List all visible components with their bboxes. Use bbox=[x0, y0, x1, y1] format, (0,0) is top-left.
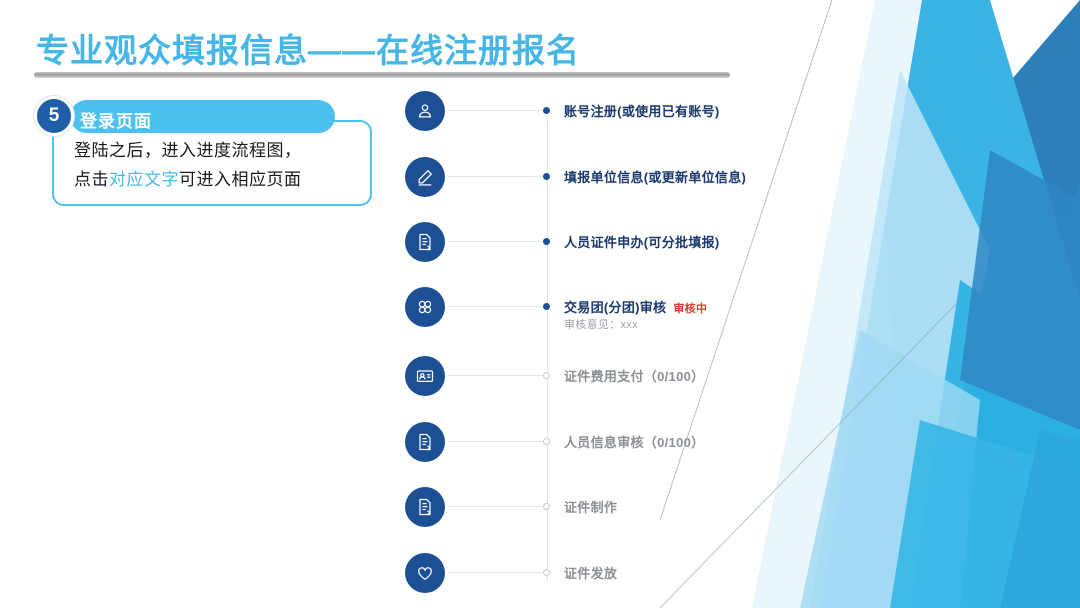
flow-step-6[interactable]: 人员信息审核（0/100） bbox=[396, 419, 776, 475]
flow-step-label: 交易团(分团)审核审核中 bbox=[564, 297, 707, 316]
flow-step-3[interactable]: 人员证件申办(可分批填报) bbox=[396, 219, 776, 275]
flow-step-4[interactable]: 交易团(分团)审核审核中 审核意见：xxx bbox=[396, 284, 776, 340]
flow-connector bbox=[448, 572, 547, 573]
flow-connector bbox=[448, 241, 547, 242]
flow-step-label: 证件费用支付（0/100） bbox=[564, 366, 704, 385]
title-divider bbox=[34, 72, 730, 78]
flow-bullet bbox=[543, 503, 550, 510]
callout-link-text[interactable]: 对应文字 bbox=[109, 170, 179, 189]
callout-panel: 登陆之后，进入进度流程图， 点击对应文字可进入相应页面 登录页面 5 bbox=[34, 96, 372, 136]
document-arrow-icon bbox=[405, 222, 445, 262]
flow-step-7[interactable]: 证件制作 bbox=[396, 484, 776, 540]
flow-step-label-text: 填报单位信息(或更新单位信息) bbox=[564, 170, 746, 185]
progress-flowchart: 账号注册(或使用已有账号) 填报单位信息(或更新单位信息) bbox=[396, 88, 776, 608]
flow-step-label-text: 人员证件申办(可分批填报) bbox=[564, 235, 720, 250]
flow-step-label: 账号注册(或使用已有账号) bbox=[564, 101, 720, 120]
id-card-icon bbox=[405, 356, 445, 396]
document-arrow-icon bbox=[405, 422, 445, 462]
flow-step-2[interactable]: 填报单位信息(或更新单位信息) bbox=[396, 154, 776, 210]
status-badge: 审核中 bbox=[673, 303, 707, 315]
flow-bullet bbox=[543, 173, 550, 180]
flow-connector bbox=[448, 375, 547, 376]
flow-bullet bbox=[543, 107, 550, 114]
flow-step-label-text: 账号注册(或使用已有账号) bbox=[564, 104, 720, 119]
heart-icon bbox=[405, 553, 445, 593]
flow-step-8[interactable]: 证件发放 bbox=[396, 550, 776, 606]
callout-description: 登陆之后，进入进度流程图， 点击对应文字可进入相应页面 bbox=[74, 136, 360, 194]
document-arrow-icon bbox=[405, 487, 445, 527]
group-icon bbox=[405, 287, 445, 327]
flow-bullet bbox=[543, 303, 550, 310]
flow-step-label: 证件制作 bbox=[564, 497, 617, 516]
flow-step-label-text: 证件制作 bbox=[564, 500, 617, 515]
flow-bullet bbox=[543, 238, 550, 245]
step-number-badge-label: 5 bbox=[37, 99, 71, 133]
slide-root: 专业观众填报信息——在线注册报名 登陆之后，进入进度流程图， 点击对应文字可进入… bbox=[0, 0, 1080, 608]
callout-line-2-suffix: 可进入相应页面 bbox=[179, 170, 302, 189]
user-icon bbox=[405, 91, 445, 131]
flow-step-label-text: 交易团(分团)审核 bbox=[564, 300, 666, 315]
callout-line-1: 登陆之后，进入进度流程图， bbox=[74, 141, 302, 160]
flow-connector bbox=[448, 441, 547, 442]
flow-step-label: 证件发放 bbox=[564, 563, 617, 582]
flow-step-1[interactable]: 账号注册(或使用已有账号) bbox=[396, 88, 776, 144]
flow-connector bbox=[448, 306, 547, 307]
flow-bullet bbox=[543, 569, 550, 576]
flow-bullet bbox=[543, 372, 550, 379]
flow-step-label-text: 人员信息审核（0/100） bbox=[564, 435, 704, 450]
flow-step-label: 人员证件申办(可分批填报) bbox=[564, 232, 720, 251]
flow-step-sublabel: 审核意见：xxx bbox=[564, 316, 638, 332]
flow-step-label-text: 证件发放 bbox=[564, 566, 617, 581]
flow-connector bbox=[448, 110, 547, 111]
callout-pill-label: 登录页面 bbox=[80, 107, 152, 132]
step-number-badge: 5 bbox=[34, 96, 74, 136]
pen-icon bbox=[405, 157, 445, 197]
page-title: 专业观众填报信息——在线注册报名 bbox=[36, 24, 580, 72]
flow-connector bbox=[448, 506, 547, 507]
flow-step-label: 填报单位信息(或更新单位信息) bbox=[564, 167, 746, 186]
flow-step-label-text: 证件费用支付（0/100） bbox=[564, 369, 704, 384]
flow-connector bbox=[448, 176, 547, 177]
callout-line-2-prefix: 点击 bbox=[74, 170, 109, 189]
flow-bullet bbox=[543, 438, 550, 445]
flow-step-5[interactable]: 证件费用支付（0/100） bbox=[396, 353, 776, 409]
callout-header: 登录页面 5 bbox=[34, 96, 372, 136]
flow-step-label: 人员信息审核（0/100） bbox=[564, 432, 704, 451]
